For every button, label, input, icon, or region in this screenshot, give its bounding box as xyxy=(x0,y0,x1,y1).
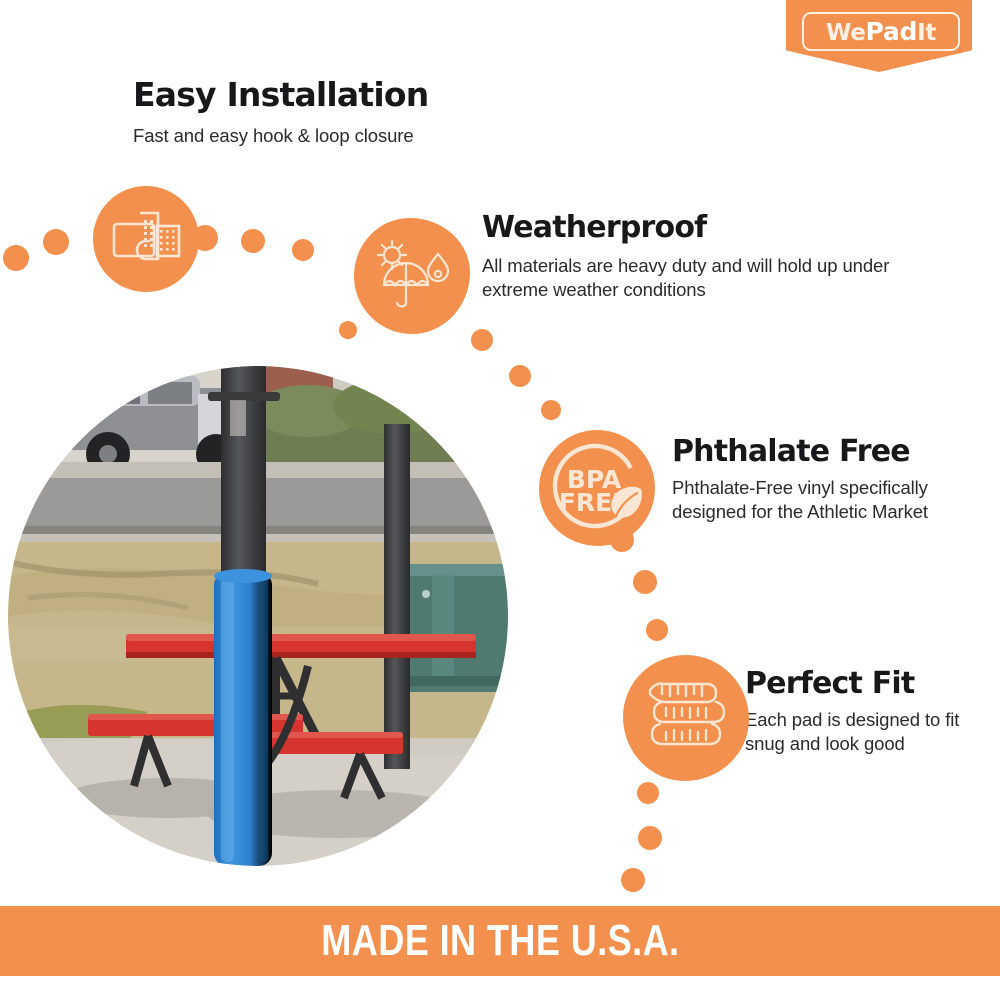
hook-and-loop-strap-icon xyxy=(93,186,199,292)
feature-title-easy-installation: Easy Installation xyxy=(133,78,563,113)
trail-dot xyxy=(339,321,357,339)
feature-body-easy-installation: Fast and easy hook & loop closure xyxy=(133,124,563,149)
bpa-free-leaf-icon: BPA FREE xyxy=(539,430,655,546)
feature-block-easy-installation: Easy Installation Fast and easy hook & l… xyxy=(133,78,563,148)
umbrella-sun-raindrop-icon xyxy=(354,218,470,334)
trail-dot xyxy=(621,868,645,892)
trail-dot xyxy=(638,826,662,850)
made-in-usa-text: MADE IN THE U.S.A. xyxy=(321,916,679,966)
trail-dot xyxy=(471,329,493,351)
product-photo xyxy=(8,366,508,866)
trail-dot xyxy=(610,528,634,552)
feature-block-weatherproof: Weatherproof All materials are heavy dut… xyxy=(482,212,912,303)
logo-text-it: It xyxy=(917,20,936,46)
feature-title-perfect-fit: Perfect Fit xyxy=(745,668,985,700)
logo-text: WePadIt xyxy=(826,19,936,45)
feature-block-perfect-fit: Perfect Fit Each pad is designed to fit … xyxy=(745,668,985,757)
trail-dot xyxy=(241,229,265,253)
trail-dot xyxy=(633,570,657,594)
feature-block-phthalate-free: Phthalate Free Phthalate-Free vinyl spec… xyxy=(672,436,972,525)
trail-dot xyxy=(646,619,668,641)
trail-dot xyxy=(509,365,531,387)
feature-title-phthalate-free: Phthalate Free xyxy=(672,436,972,468)
feature-body-perfect-fit: Each pad is designed to fit snug and loo… xyxy=(745,708,985,757)
trail-dot xyxy=(3,245,29,271)
made-in-usa-banner: MADE IN THE U.S.A. xyxy=(0,906,1000,976)
trail-dot xyxy=(192,225,218,251)
brand-logo[interactable]: WePadIt xyxy=(786,0,972,72)
measuring-tape-icon xyxy=(623,655,749,781)
trail-dot xyxy=(292,239,314,261)
logo-text-we: We xyxy=(826,20,866,46)
feature-body-weatherproof: All materials are heavy duty and will ho… xyxy=(482,254,912,303)
logo-text-pad: Pad xyxy=(866,17,918,46)
feature-body-phthalate-free: Phthalate-Free vinyl specifically design… xyxy=(672,476,972,525)
trail-dot xyxy=(541,400,561,420)
trail-dot xyxy=(43,229,69,255)
logo-outline-box: WePadIt xyxy=(802,12,960,51)
trail-dot xyxy=(637,782,659,804)
infographic-canvas: WePadIt Easy Installation Fast and easy … xyxy=(0,0,1000,987)
feature-title-weatherproof: Weatherproof xyxy=(482,212,912,244)
